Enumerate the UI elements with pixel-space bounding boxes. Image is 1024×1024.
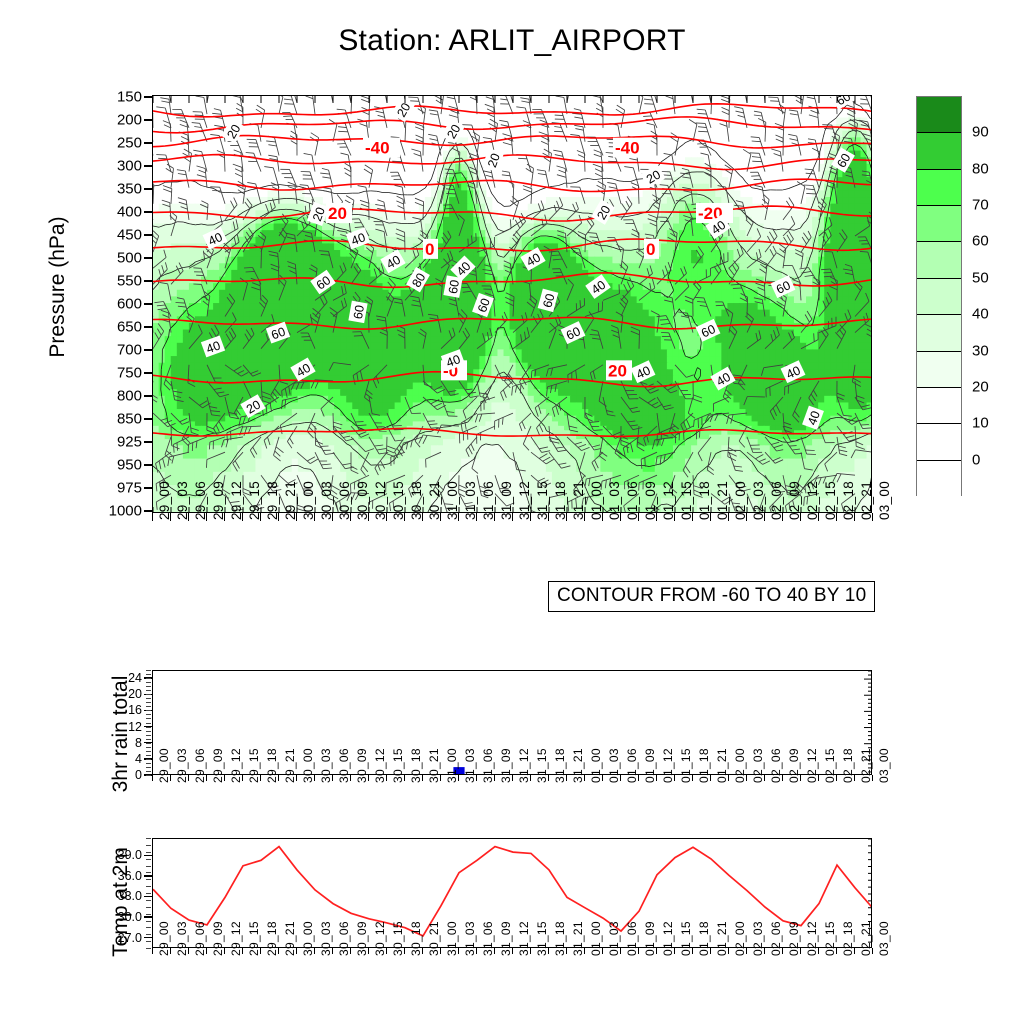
main-ytick <box>144 188 152 189</box>
temp-x-tick <box>746 948 747 954</box>
main-ytick-label: 350 <box>78 181 142 198</box>
temp-ytick <box>144 937 152 938</box>
rain-x-tick-label: 29_15 <box>247 748 261 783</box>
rain-x-tick-label: 29_06 <box>193 748 207 783</box>
rain-ytick-minor <box>146 690 151 691</box>
x-tick <box>782 513 783 521</box>
colorbar-band <box>917 242 961 278</box>
x-tick <box>386 513 387 521</box>
rain-ytick-minor <box>146 670 151 671</box>
temp-ytick-minor <box>146 893 151 894</box>
rain-x-tick-label: 29_21 <box>283 748 297 783</box>
temp-x-tick <box>350 948 351 954</box>
temp-ytick <box>144 855 152 856</box>
x-tick <box>872 513 873 521</box>
rain-ytick-minor <box>146 702 151 703</box>
x-tick <box>314 513 315 521</box>
temp-x-tick <box>386 948 387 954</box>
rain-x-tick-label: 02_21 <box>859 748 873 783</box>
temp-x-tick <box>260 948 261 954</box>
x-tick <box>836 513 837 521</box>
temp-x-tick-label: 31_03 <box>463 921 477 956</box>
main-ytick-label: 750 <box>78 365 142 382</box>
rain-x-tick <box>548 775 549 781</box>
main-ytick-label: 925 <box>78 434 142 451</box>
temp-x-tick-label: 02_18 <box>841 921 855 956</box>
rain-ytick-minor <box>146 775 151 776</box>
rain-x-tick <box>350 775 351 781</box>
main-ytick <box>144 165 152 166</box>
temp-x-tick-label: 02_21 <box>859 921 873 956</box>
main-ytick-label: 800 <box>78 388 142 405</box>
temp-x-tick-label: 31_00 <box>445 921 459 956</box>
rain-x-tick <box>152 775 153 781</box>
main-ytick-label: 650 <box>78 319 142 336</box>
temp-x-tick <box>566 948 567 954</box>
rain-ytick-minor <box>146 674 151 675</box>
main-ytick-label: 250 <box>78 135 142 152</box>
main-ytick <box>144 510 152 511</box>
temp-ytick-minor <box>146 845 151 846</box>
rain-x-tick <box>314 775 315 781</box>
rain-x-tick-label: 30_06 <box>337 748 351 783</box>
temp-x-tick <box>854 948 855 954</box>
temp-x-tick <box>728 948 729 954</box>
temp-ytick-minor <box>146 838 151 839</box>
temp-x-tick-label: 29_12 <box>229 921 243 956</box>
rain-ytick-minor <box>146 710 151 711</box>
temp-ytick <box>144 875 152 876</box>
temp-x-tick <box>404 948 405 954</box>
rain-x-tick <box>278 775 279 781</box>
x-tick <box>854 513 855 521</box>
rain-x-tick-label: 01_00 <box>589 748 603 783</box>
temp-x-tick <box>584 948 585 954</box>
temp-x-tick <box>206 948 207 954</box>
main-ytick <box>144 119 152 120</box>
main-ytick-label: 550 <box>78 273 142 290</box>
main-ytick <box>144 96 152 97</box>
sounding-graphics: -40-4020-2000-02020202020204040404040406… <box>153 96 872 513</box>
rain-ytick-minor <box>146 678 151 679</box>
rain-x-tick-label: 30_00 <box>301 748 315 783</box>
rain-ytick-minor <box>146 751 151 752</box>
rain-x-tick <box>476 775 477 781</box>
main-ytick <box>144 464 152 465</box>
rain-x-tick <box>782 775 783 781</box>
rain-x-tick <box>494 775 495 781</box>
temp-x-tick <box>872 948 873 954</box>
x-tick <box>404 513 405 521</box>
rain-x-tick <box>584 775 585 781</box>
temp-ytick-minor <box>146 948 151 949</box>
rain-x-tick <box>170 775 171 781</box>
rain-x-tick <box>836 775 837 781</box>
temp-x-tick-label: 03_00 <box>877 921 891 956</box>
temp-x-tick-label: 30_00 <box>301 921 315 956</box>
temp-x-tick <box>242 948 243 954</box>
rain-x-tick-label: 02_09 <box>787 748 801 783</box>
x-tick <box>674 513 675 521</box>
temp-x-tick <box>710 948 711 954</box>
colorbar-tick-label: 20 <box>972 378 989 395</box>
temp-x-tick <box>188 948 189 954</box>
main-ylabel: Pressure (hPa) <box>46 177 70 397</box>
x-tick-label: 03_00 <box>877 481 892 520</box>
x-tick <box>458 513 459 521</box>
rain-x-tick-label: 02_15 <box>823 748 837 783</box>
colorbar-band <box>917 170 961 206</box>
contour-note: CONTOUR FROM -60 TO 40 BY 10 <box>548 581 875 612</box>
colorbar-tick-label: 60 <box>972 233 989 250</box>
temp-x-tick-label: 30_09 <box>355 921 369 956</box>
temp-x-tick <box>278 948 279 954</box>
colorbar-tick-label: 50 <box>972 269 989 286</box>
temp-x-tick-label: 31_06 <box>481 921 495 956</box>
rain-x-tick-label: 29_12 <box>229 748 243 783</box>
temp-ytick-minor <box>146 941 151 942</box>
rain-x-tick-label: 29_09 <box>211 748 225 783</box>
temp-x-tick <box>368 948 369 954</box>
temp-ytick-label: 30.0 <box>86 910 142 924</box>
temp-x-tick <box>494 948 495 954</box>
rain-ytick-minor <box>146 739 151 740</box>
x-tick <box>530 513 531 521</box>
x-tick <box>224 513 225 521</box>
sounding-plot[interactable]: -40-4020-2000-02020202020204040404040406… <box>152 95 872 513</box>
temp-x-tick <box>152 948 153 954</box>
colorbar-band <box>917 279 961 315</box>
temp-x-tick-label: 31_09 <box>499 921 513 956</box>
rain-ytick-minor <box>146 763 151 764</box>
colorbar-tick-label: 90 <box>972 124 989 141</box>
temp-ytick-minor <box>146 872 151 873</box>
rain-ytick-minor <box>146 747 151 748</box>
colorbar-tick-label: 70 <box>972 197 989 214</box>
colorbar-band <box>917 97 961 133</box>
rain-x-tick <box>656 775 657 781</box>
temp-x-tick <box>836 948 837 954</box>
rain-x-tick <box>818 775 819 781</box>
rain-x-tick <box>800 775 801 781</box>
rain-x-tick <box>440 775 441 781</box>
rain-ytick-label: 0 <box>96 768 142 782</box>
x-tick <box>638 513 639 521</box>
temp-x-tick-label: 30_21 <box>427 921 441 956</box>
temp-x-tick <box>548 948 549 954</box>
temp-x-tick-label: 29_06 <box>193 921 207 956</box>
temp-ytick-minor <box>146 886 151 887</box>
colorbar-tick-label: 40 <box>972 306 989 323</box>
temp-x-tick-label: 30_03 <box>319 921 333 956</box>
rain-ytick-label: 24 <box>96 671 142 685</box>
rain-x-tick-label: 30_12 <box>373 748 387 783</box>
x-tick <box>692 513 693 521</box>
temp-x-tick <box>224 948 225 954</box>
rain-ytick-minor <box>146 727 151 728</box>
temp-ytick-label: 27.0 <box>86 931 142 945</box>
x-tick <box>152 513 153 521</box>
colorbar[interactable] <box>916 96 962 496</box>
temp-x-tick <box>800 948 801 954</box>
temp-x-tick <box>638 948 639 954</box>
rain-ytick-label: 12 <box>96 720 142 734</box>
temp-x-tick-label: 02_06 <box>769 921 783 956</box>
temp-x-tick <box>458 948 459 954</box>
main-ytick-label: 450 <box>78 227 142 244</box>
temp-x-tick-label: 31_21 <box>571 921 585 956</box>
main-ytick <box>144 349 152 350</box>
x-tick <box>818 513 819 521</box>
rain-x-tick <box>764 775 765 781</box>
rain-x-tick-label: 30_09 <box>355 748 369 783</box>
main-ytick-label: 150 <box>78 89 142 106</box>
rain-x-tick <box>332 775 333 781</box>
rain-ytick-label: 4 <box>96 752 142 766</box>
temp-x-tick-label: 02_12 <box>805 921 819 956</box>
x-tick <box>206 513 207 521</box>
temp-x-tick-label: 29_21 <box>283 921 297 956</box>
rain-ytick-minor <box>146 686 151 687</box>
colorbar-tick-label: 0 <box>972 451 980 468</box>
x-tick <box>620 513 621 521</box>
temp-ytick <box>144 916 152 917</box>
x-tick <box>188 513 189 521</box>
temp-x-tick-label: 02_15 <box>823 921 837 956</box>
main-ytick <box>144 142 152 143</box>
rain-x-tick-label: 03_00 <box>877 748 891 783</box>
main-ytick-label: 1000 <box>78 503 142 520</box>
temp-ytick-minor <box>146 866 151 867</box>
rain-x-tick-label: 02_18 <box>841 748 855 783</box>
temp-x-tick <box>764 948 765 954</box>
main-ytick <box>144 211 152 212</box>
main-ytick-label: 975 <box>78 480 142 497</box>
rain-ytick-minor <box>146 723 151 724</box>
temp-x-tick-label: 01_21 <box>715 921 729 956</box>
colorbar-band <box>917 315 961 351</box>
rain-x-tick-label: 31_12 <box>517 748 531 783</box>
temp-x-tick <box>620 948 621 954</box>
x-tick <box>260 513 261 521</box>
main-ytick <box>144 257 152 258</box>
temp-x-tick-label: 01_03 <box>607 921 621 956</box>
rain-x-tick <box>386 775 387 781</box>
temp-x-tick-label: 01_18 <box>697 921 711 956</box>
temp-x-tick-label: 02_09 <box>787 921 801 956</box>
colorbar-tick-label: 30 <box>972 342 989 359</box>
main-ytick-label: 850 <box>78 411 142 428</box>
temp-x-tick <box>296 948 297 954</box>
rain-x-tick-label: 01_21 <box>715 748 729 783</box>
main-ytick-label: 200 <box>78 112 142 129</box>
rain-x-tick-label: 29_00 <box>157 748 171 783</box>
rain-ytick-minor <box>146 694 151 695</box>
main-ytick-label: 400 <box>78 204 142 221</box>
temp-ytick-minor <box>146 927 151 928</box>
temp-ytick-label: 33.0 <box>86 889 142 903</box>
rain-x-tick-label: 31_09 <box>499 748 513 783</box>
temp-x-tick-label: 30_06 <box>337 921 351 956</box>
rain-ytick-minor <box>146 698 151 699</box>
main-ytick <box>144 234 152 235</box>
temp-ytick-minor <box>146 900 151 901</box>
temp-x-tick <box>476 948 477 954</box>
x-tick <box>422 513 423 521</box>
temp-x-tick <box>530 948 531 954</box>
x-tick <box>440 513 441 521</box>
x-tick <box>746 513 747 521</box>
rain-x-tick-label: 01_12 <box>661 748 675 783</box>
rain-x-tick <box>872 775 873 781</box>
rain-ytick-minor <box>146 714 151 715</box>
x-tick <box>710 513 711 521</box>
rain-ytick-label: 20 <box>96 687 142 701</box>
x-tick <box>170 513 171 521</box>
temp-x-tick-label: 30_12 <box>373 921 387 956</box>
rain-x-tick <box>188 775 189 781</box>
rain-ytick-minor <box>146 771 151 772</box>
rain-ytick-minor <box>146 706 151 707</box>
temp-x-tick-label: 29_15 <box>247 921 261 956</box>
rain-x-tick <box>566 775 567 781</box>
main-ytick-label: 300 <box>78 158 142 175</box>
temp-x-tick-label: 31_15 <box>535 921 549 956</box>
x-tick <box>584 513 585 521</box>
x-tick <box>764 513 765 521</box>
rain-x-tick-label: 01_09 <box>643 748 657 783</box>
main-ytick <box>144 326 152 327</box>
main-ytick-label: 500 <box>78 250 142 267</box>
colorbar-band <box>917 424 961 460</box>
x-tick <box>296 513 297 521</box>
x-tick <box>278 513 279 521</box>
rain-x-tick-label: 02_03 <box>751 748 765 783</box>
temp-ytick-label: 39.0 <box>86 848 142 862</box>
temp-x-tick-label: 01_09 <box>643 921 657 956</box>
main-ytick-label: 700 <box>78 342 142 359</box>
rain-x-tick <box>728 775 729 781</box>
temp-x-tick <box>656 948 657 954</box>
temp-x-tick-label: 31_18 <box>553 921 567 956</box>
temp-x-tick <box>692 948 693 954</box>
colorbar-tick-label: 10 <box>972 415 989 432</box>
temp-ytick-label: 36.0 <box>86 869 142 883</box>
rain-x-tick-label: 29_18 <box>265 748 279 783</box>
x-tick <box>656 513 657 521</box>
rain-ytick-label: 16 <box>96 703 142 717</box>
main-ytick <box>144 303 152 304</box>
rain-x-tick-label: 31_21 <box>571 748 585 783</box>
rain-ytick-minor <box>146 731 151 732</box>
temp-x-tick-label: 29_18 <box>265 921 279 956</box>
rain-x-tick-label: 31_18 <box>553 748 567 783</box>
rain-x-tick-label: 01_18 <box>697 748 711 783</box>
temp-ytick-minor <box>146 934 151 935</box>
temp-x-tick-label: 01_12 <box>661 921 675 956</box>
temp-ytick-minor <box>146 907 151 908</box>
temp-x-tick <box>782 948 783 954</box>
rain-x-tick <box>620 775 621 781</box>
temp-ytick-minor <box>146 859 151 860</box>
rain-x-tick-label: 30_03 <box>319 748 333 783</box>
rain-x-tick-label: 01_15 <box>679 748 693 783</box>
temp-x-tick <box>512 948 513 954</box>
rain-x-tick <box>296 775 297 781</box>
x-tick <box>476 513 477 521</box>
main-panel: Pressure (hPa) 1502002503003504004505005… <box>0 0 1024 620</box>
colorbar-band <box>917 352 961 388</box>
rain-x-tick <box>674 775 675 781</box>
rain-ytick-minor <box>146 767 151 768</box>
temp-x-tick-label: 29_03 <box>175 921 189 956</box>
main-ytick-label: 950 <box>78 457 142 474</box>
rain-ytick-minor <box>146 759 151 760</box>
main-ytick <box>144 280 152 281</box>
main-ytick <box>144 487 152 488</box>
x-tick <box>512 513 513 521</box>
temp-x-tick-label: 02_03 <box>751 921 765 956</box>
temp-ytick-minor <box>146 852 151 853</box>
main-ytick <box>144 372 152 373</box>
rain-x-tick-label: 02_12 <box>805 748 819 783</box>
main-ytick <box>144 418 152 419</box>
temp-x-tick <box>314 948 315 954</box>
temp-ytick-minor <box>146 914 151 915</box>
rain-x-tick <box>602 775 603 781</box>
rain-x-tick-label: 31_15 <box>535 748 549 783</box>
temp-x-tick <box>602 948 603 954</box>
rain-x-tick <box>224 775 225 781</box>
rain-x-tick <box>404 775 405 781</box>
x-tick <box>242 513 243 521</box>
rain-x-tick <box>638 775 639 781</box>
rain-x-tick-label: 01_03 <box>607 748 621 783</box>
rain-ytick-minor <box>146 735 151 736</box>
x-tick <box>602 513 603 521</box>
temp-ytick <box>144 896 152 897</box>
temp-x-tick <box>674 948 675 954</box>
rain-x-tick-label: 30_15 <box>391 748 405 783</box>
rain-ytick-minor <box>146 718 151 719</box>
rain-x-tick-label: 29_03 <box>175 748 189 783</box>
rain-x-tick <box>422 775 423 781</box>
colorbar-band <box>917 206 961 242</box>
x-tick <box>566 513 567 521</box>
main-ytick <box>144 395 152 396</box>
temp-x-tick <box>332 948 333 954</box>
rain-x-tick <box>368 775 369 781</box>
rain-x-tick <box>746 775 747 781</box>
temp-x-tick-label: 29_00 <box>157 921 171 956</box>
rain-x-tick <box>260 775 261 781</box>
x-tick <box>350 513 351 521</box>
rain-x-tick <box>458 775 459 781</box>
rain-x-tick <box>242 775 243 781</box>
temp-x-tick <box>818 948 819 954</box>
temp-ytick-minor <box>146 921 151 922</box>
rain-ytick-minor <box>146 755 151 756</box>
temp-x-tick-label: 01_15 <box>679 921 693 956</box>
x-tick <box>728 513 729 521</box>
rain-x-tick-label: 02_06 <box>769 748 783 783</box>
rain-x-tick <box>512 775 513 781</box>
rain-x-tick-label: 31_06 <box>481 748 495 783</box>
x-tick <box>332 513 333 521</box>
rain-ytick-minor <box>146 682 151 683</box>
main-ytick <box>144 441 152 442</box>
temp-x-tick <box>440 948 441 954</box>
